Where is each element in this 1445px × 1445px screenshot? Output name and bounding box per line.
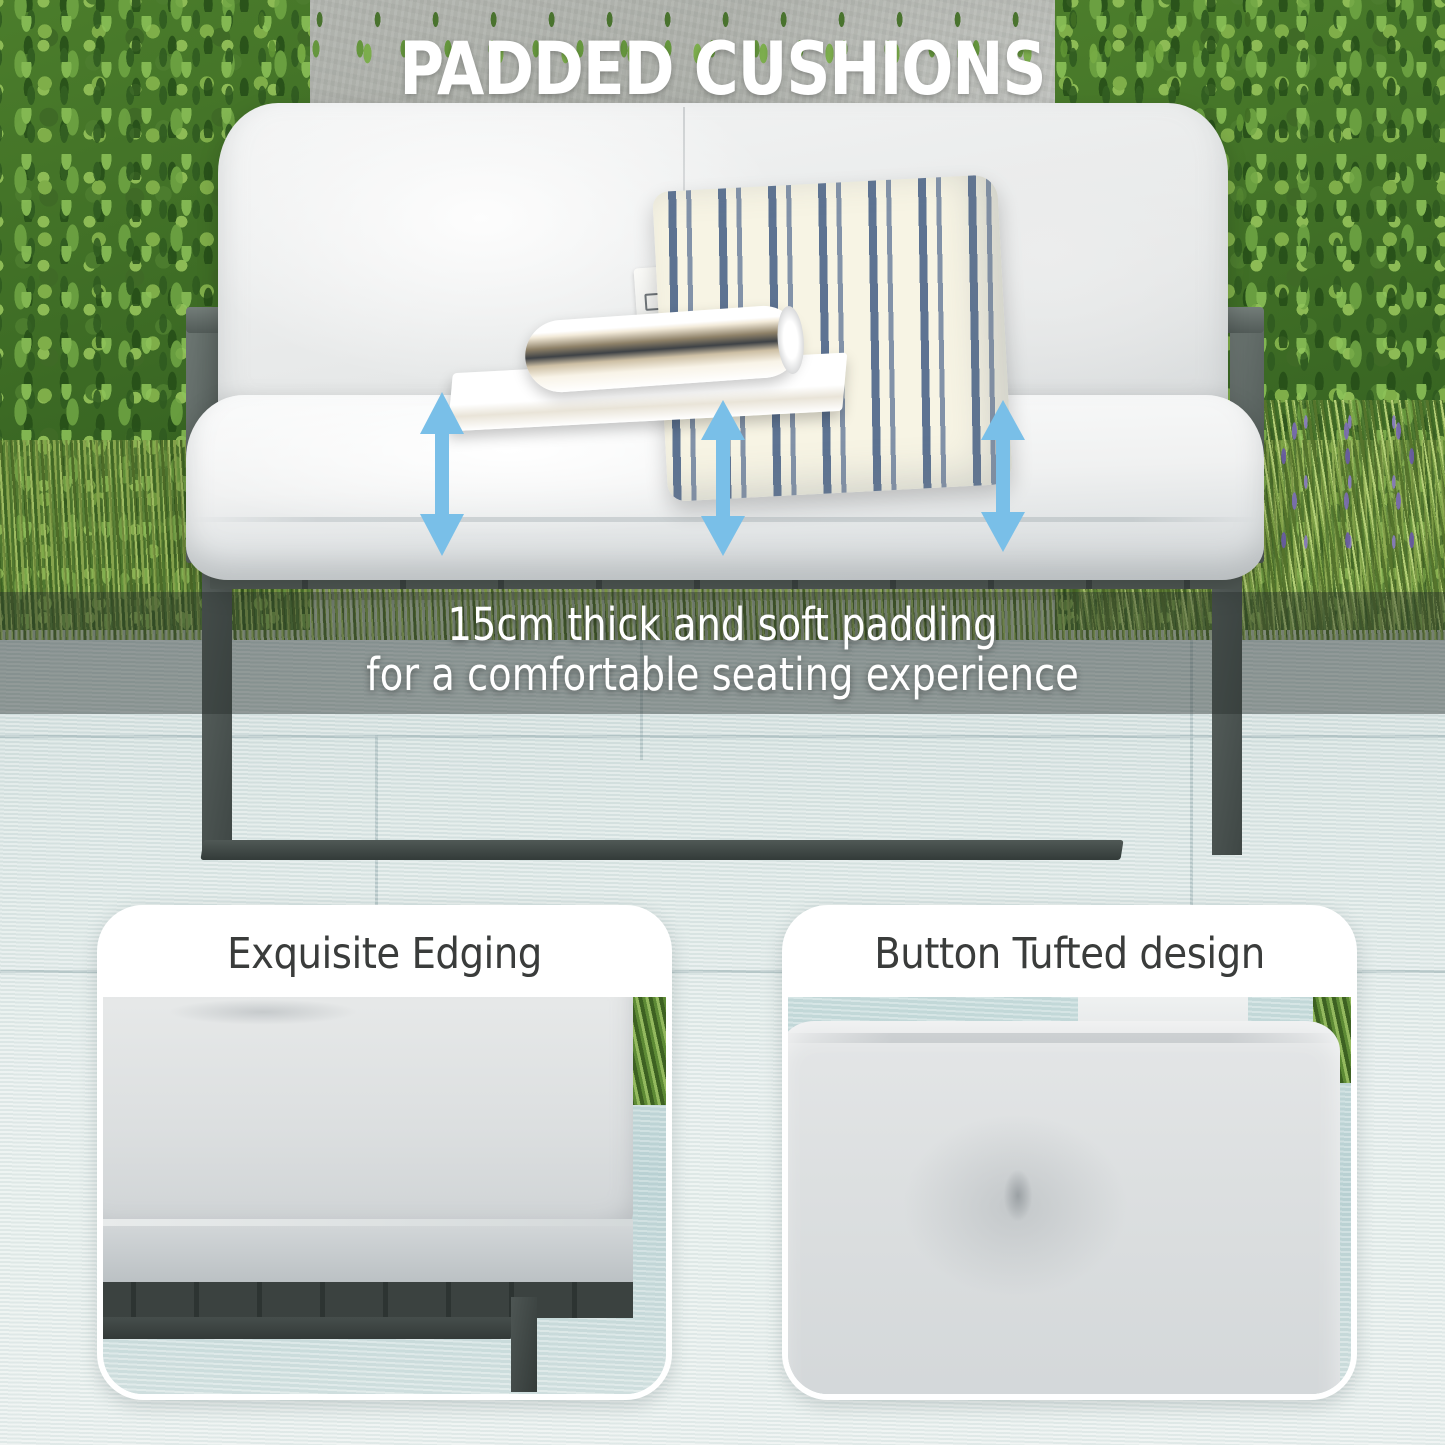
feature-card-photo-tufting: [788, 997, 1351, 1394]
card-cushion-seam: [788, 1033, 1340, 1043]
card-frame-slats: [103, 1282, 633, 1318]
thickness-arrow-right: [973, 398, 1033, 554]
feature-card-exquisite-edging[interactable]: Exquisite Edging: [97, 905, 672, 1400]
card-vertical-leg: [511, 1297, 537, 1392]
caption-line-1: 15cm thick and soft padding: [36, 600, 1409, 650]
feature-card-photo-edging: [103, 997, 666, 1394]
feature-card-label: Exquisite Edging: [227, 929, 542, 979]
card-tufted-cushion: [788, 1021, 1340, 1394]
thickness-arrow-center: [693, 398, 753, 558]
card-button-tuft-dimple: [998, 1157, 1038, 1227]
thickness-arrow-left: [412, 390, 472, 558]
caption-text: 15cm thick and soft padding for a comfor…: [36, 600, 1409, 701]
feature-card-label: Button Tufted design: [874, 929, 1265, 979]
page-title: PADDED CUSHIONS: [51, 27, 1395, 112]
caption-line-2: for a comfortable seating experience: [36, 650, 1409, 700]
sled-base: [200, 840, 1123, 860]
product-feature-image: PADDED CUSHIONS 15cm thick and soft padd…: [0, 0, 1445, 1445]
card-sled-leg: [103, 1317, 515, 1339]
feature-card-header: Exquisite Edging: [103, 911, 666, 997]
card-cushion-piping: [103, 1219, 633, 1226]
feature-card-header: Button Tufted design: [788, 911, 1351, 997]
feature-card-button-tufted[interactable]: Button Tufted design: [782, 905, 1357, 1400]
card-cushion-skirt: [103, 1226, 633, 1288]
card-cushion: [103, 997, 633, 1239]
